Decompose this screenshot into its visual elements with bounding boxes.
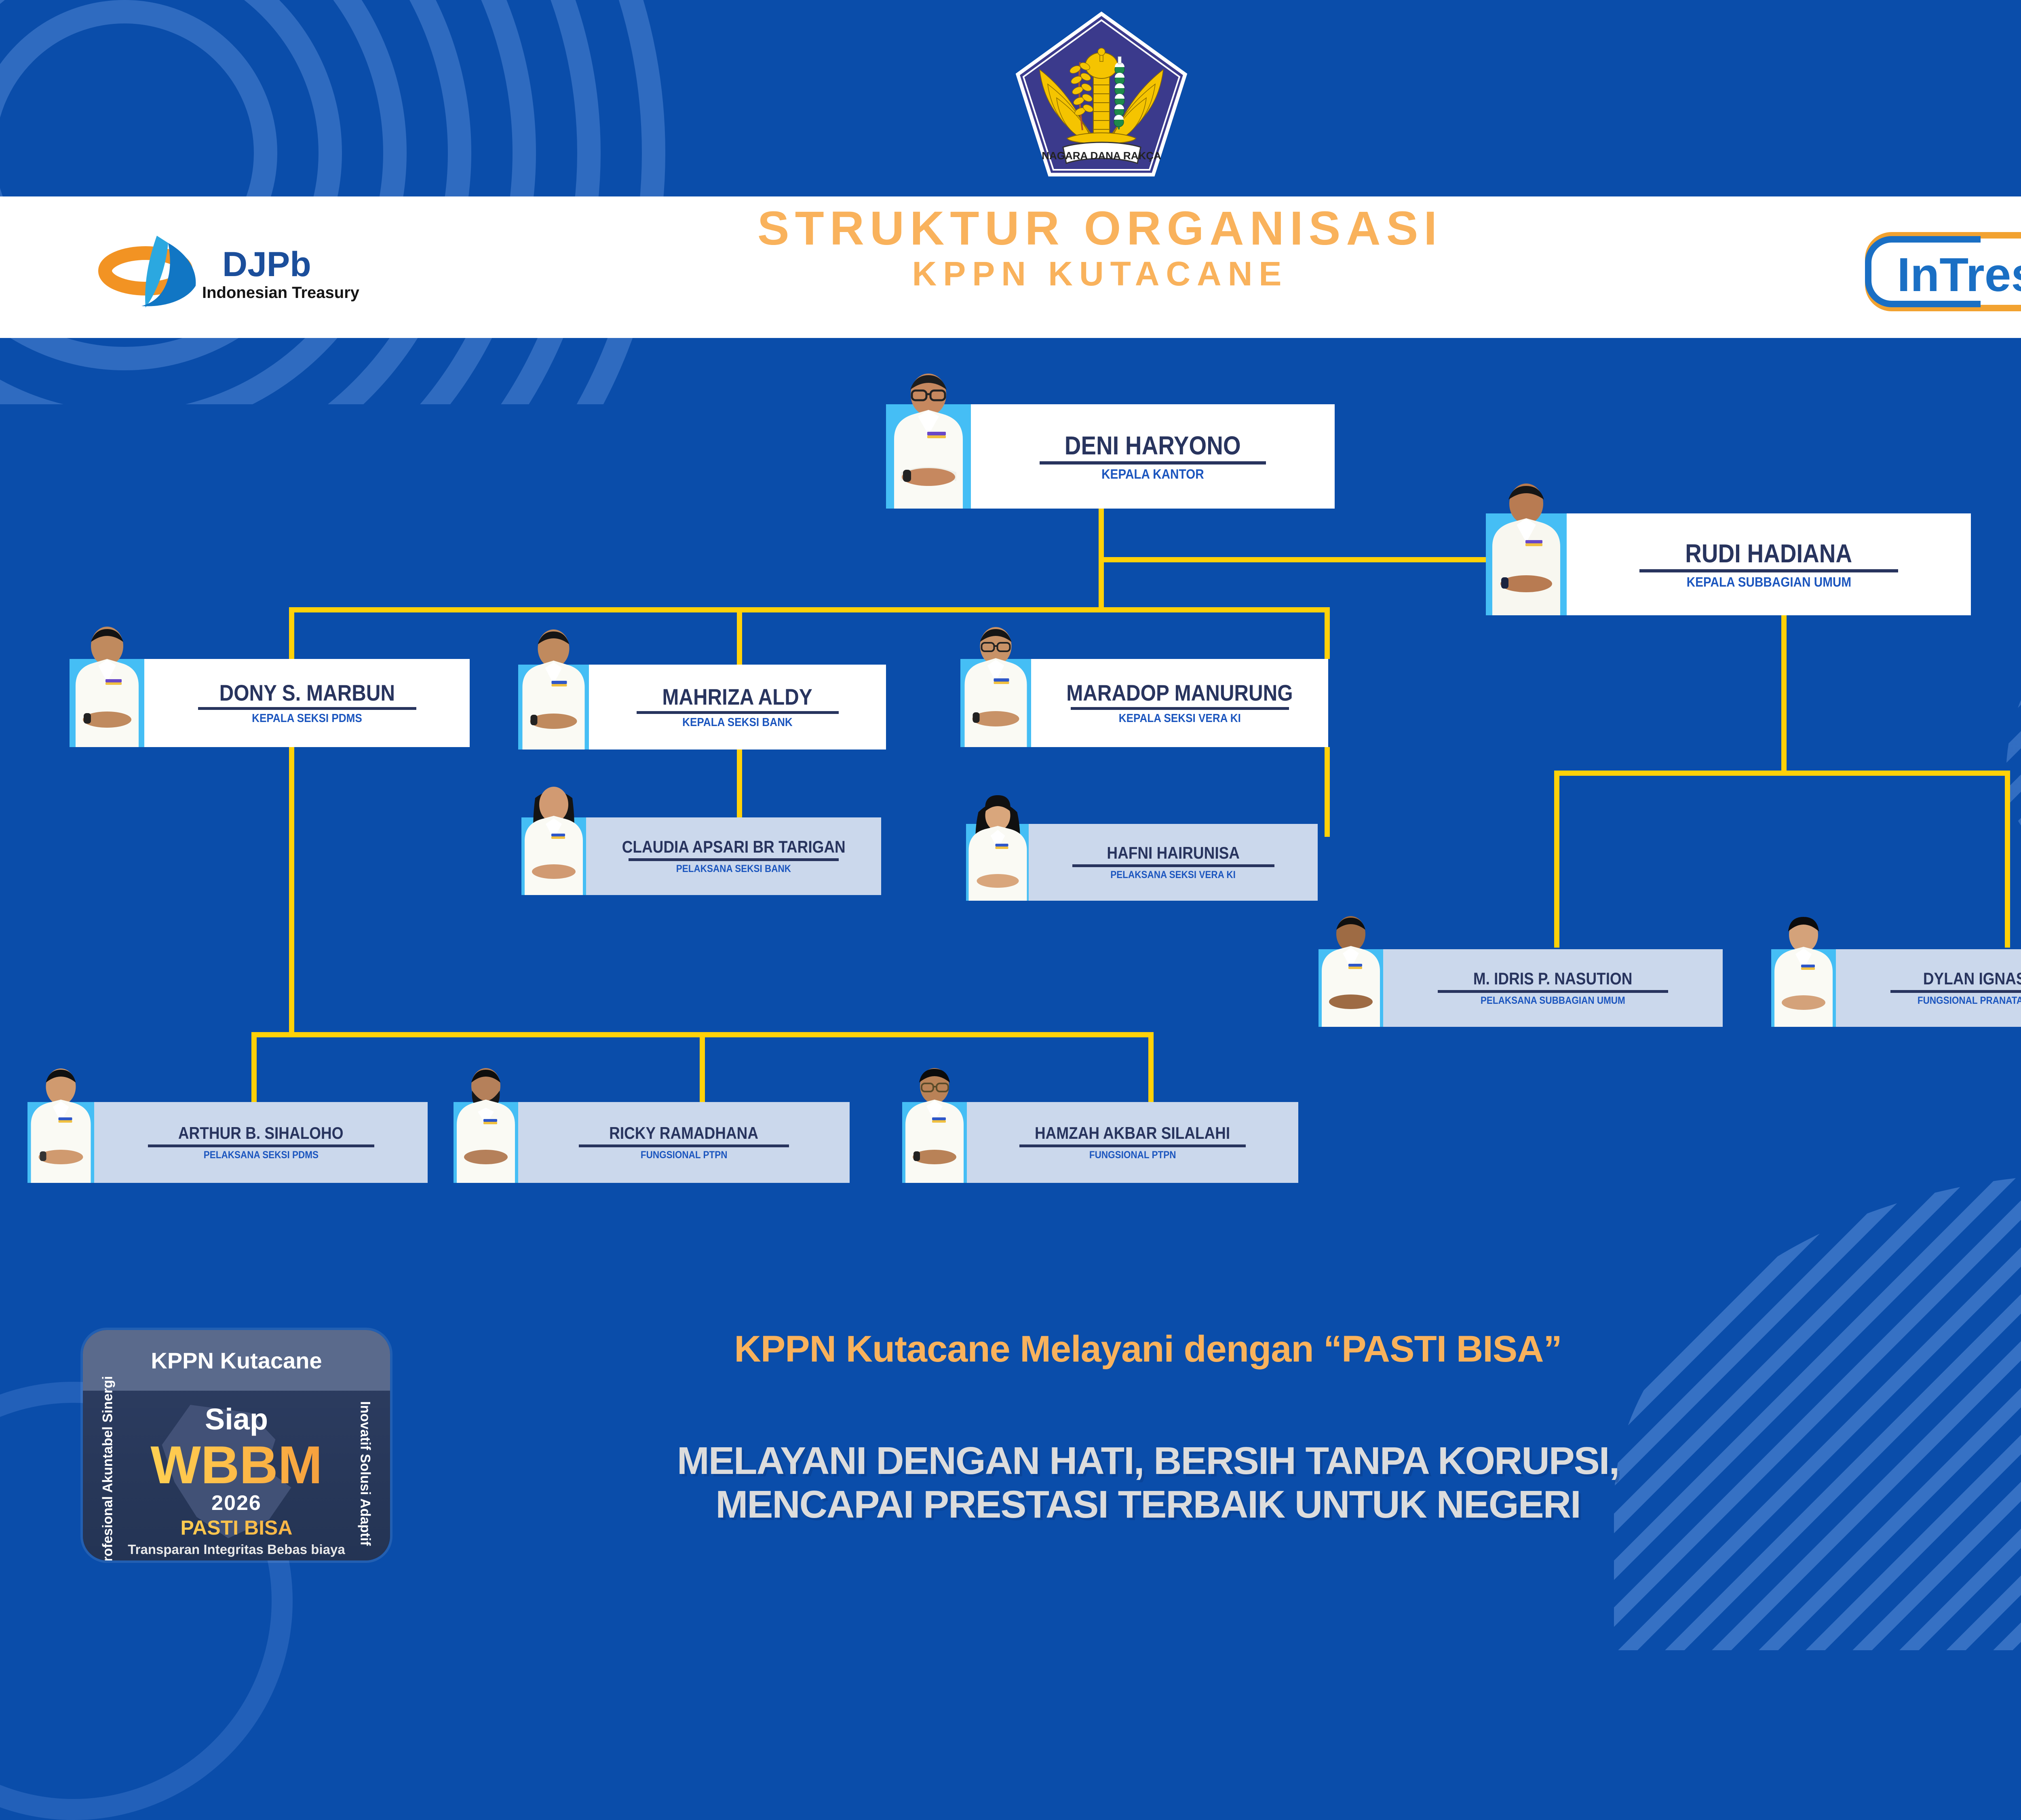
person-title: KEPALA SEKSI BANK — [682, 717, 793, 728]
org-card-dony[interactable]: DONY S. MARBUN KEPALA SEKSI PDMS — [70, 659, 470, 747]
person-title: FUNGSIONAL PRANATA KEUANGAN APBN — [1918, 996, 2021, 1006]
org-card-ricky[interactable]: RICKY RAMADHANA FUNGSIONAL PTPN — [454, 1102, 850, 1183]
card-info: CLAUDIA APSARI BR TARIGAN PELAKSANA SEKS… — [586, 817, 881, 895]
divider — [1040, 461, 1266, 465]
divider — [198, 707, 416, 710]
badge-header: KPPN Kutacane — [83, 1330, 390, 1391]
divider — [1639, 569, 1898, 572]
person-photo — [23, 1066, 98, 1183]
person-title: KEPALA SEKSI VERA KI — [1118, 713, 1240, 724]
org-card-arthur[interactable]: ARTHUR B. SIHALOHO PELAKSANA SEKSI PDMS — [27, 1102, 428, 1183]
avatar — [70, 659, 144, 747]
divider — [1890, 990, 2021, 993]
avatar — [886, 404, 971, 509]
divider — [629, 858, 839, 861]
title-main: STRUKTUR ORGANISASI — [0, 204, 2021, 253]
person-title: KEPALA SEKSI PDMS — [252, 713, 362, 724]
org-card-mahriza[interactable]: MAHRIZA ALDY KEPALA SEKSI BANK — [518, 665, 886, 750]
org-card-dylan[interactable]: DYLAN IGNAS ANGGIAN FUNGSIONAL PRANATA K… — [1771, 949, 2021, 1027]
card-info: ARTHUR B. SIHALOHO PELAKSANA SEKSI PDMS — [94, 1102, 428, 1183]
footer-tagline: KPPN Kutacane Melayani dengan “PASTI BIS… — [388, 1328, 1908, 1370]
person-title: FUNGSIONAL PTPN — [641, 1150, 728, 1160]
org-card-hamzah[interactable]: HAMZAH AKBAR SILALAHI FUNGSIONAL PTPN — [902, 1102, 1298, 1183]
connector-bus-to-deni — [1099, 561, 1104, 612]
avatar — [521, 817, 586, 895]
person-name: HAMZAH AKBAR SILALAHI — [1035, 1125, 1230, 1142]
connector-deni-to-rudi — [1099, 557, 1486, 562]
footer-slogan-line1: MELAYANI DENGAN HATI, BERSIH TANPA KORUP… — [388, 1439, 1908, 1483]
card-info: M. IDRIS P. NASUTION PELAKSANA SUBBAGIAN… — [1383, 949, 1723, 1027]
person-photo — [962, 790, 1033, 901]
divider — [579, 1144, 789, 1147]
person-name: RUDI HADIANA — [1686, 541, 1852, 566]
connector-maradop-hafni — [1325, 747, 1330, 837]
card-info: MAHRIZA ALDY KEPALA SEKSI BANK — [589, 665, 886, 750]
badge-footer-values: Transparan Integritas Bebas biaya — [83, 1542, 390, 1557]
divider — [1438, 990, 1668, 993]
person-title: PELAKSANA SEKSI PDMS — [203, 1150, 318, 1160]
background-stripes-bottom-right — [1614, 1173, 2021, 1650]
divider — [637, 711, 839, 714]
person-photo — [517, 782, 590, 895]
org-card-rudi[interactable]: RUDI HADIANA KEPALA SUBBAGIAN UMUM — [1486, 513, 1971, 615]
footer-slogan: MELAYANI DENGAN HATI, BERSIH TANPA KORUP… — [388, 1439, 1908, 1526]
card-info: MARADOP MANURUNG KEPALA SEKSI VERA KI — [1031, 659, 1328, 747]
person-photo — [449, 1066, 522, 1183]
divider — [1019, 1144, 1246, 1147]
badge-wbbm: WBBM — [83, 1434, 390, 1495]
person-name: HAFNI HAIRUNISA — [1107, 845, 1240, 861]
person-title: KEPALA KANTOR — [1101, 467, 1204, 481]
person-title: PELAKSANA SEKSI BANK — [676, 864, 791, 874]
org-card-hafni[interactable]: HAFNI HAIRUNISA PELAKSANA SEKSI VERA KI — [966, 824, 1318, 901]
person-photo — [1767, 914, 1840, 1027]
wbbm-badge: KPPN Kutacane Profesional Akuntabel Sine… — [83, 1330, 390, 1560]
avatar — [1771, 949, 1836, 1027]
org-card-maradop[interactable]: MARADOP MANURUNG KEPALA SEKSI VERA KI — [960, 659, 1328, 747]
card-info: RUDI HADIANA KEPALA SUBBAGIAN UMUM — [1567, 513, 1971, 615]
avatar — [27, 1102, 94, 1183]
card-info: HAMZAH AKBAR SILALAHI FUNGSIONAL PTPN — [967, 1102, 1298, 1183]
footer-slogan-line2: MENCAPAI PRESTASI TERBAIK UNTUK NEGERI — [388, 1483, 1908, 1527]
connector-rudi-bus — [1554, 771, 2010, 776]
person-name: DENI HARYONO — [1065, 433, 1241, 458]
person-name: DONY S. MARBUN — [219, 682, 394, 704]
emblem-motto: NAGARA DANA RAKÇA — [1042, 150, 1161, 162]
person-name: MAHRIZA ALDY — [662, 686, 812, 708]
badge-year: 2026 — [83, 1491, 390, 1515]
connector-drop-idris — [1554, 771, 1559, 948]
avatar — [902, 1102, 967, 1183]
connector-drop-maradop — [1325, 607, 1330, 659]
connector-drop-mahriza — [737, 607, 742, 665]
person-name: DYLAN IGNAS ANGGIAN — [1923, 970, 2021, 987]
card-info: DENI HARYONO KEPALA KANTOR — [971, 404, 1335, 509]
person-name: M. IDRIS P. NASUTION — [1473, 970, 1633, 987]
avatar — [518, 665, 589, 750]
poster-title: STRUKTUR ORGANISASI KPPN KUTACANE — [0, 204, 2021, 293]
person-photo — [514, 628, 593, 750]
person-title: FUNGSIONAL PTPN — [1089, 1150, 1176, 1160]
kemenkeu-emblem: NAGARA DANA RAKÇA — [1010, 5, 1192, 195]
badge-pasti-bisa: PASTI BISA — [83, 1516, 390, 1539]
poster-canvas: NAGARA DANA RAKÇA DJPb Indonesian Treasu… — [0, 0, 2021, 1650]
person-title: PELAKSANA SUBBAGIAN UMUM — [1481, 996, 1625, 1006]
person-name: MARADOP MANURUNG — [1066, 682, 1293, 704]
card-info: RICKY RAMADHANA FUNGSIONAL PTPN — [518, 1102, 850, 1183]
org-card-deni[interactable]: DENI HARYONO KEPALA KANTOR — [886, 404, 1335, 509]
person-name: ARTHUR B. SIHALOHO — [178, 1125, 344, 1142]
person-title: PELAKSANA SEKSI VERA KI — [1111, 870, 1236, 880]
card-info: HAFNI HAIRUNISA PELAKSANA SEKSI VERA KI — [1029, 824, 1318, 901]
org-card-claudia[interactable]: CLAUDIA APSARI BR TARIGAN PELAKSANA SEKS… — [521, 817, 881, 895]
avatar — [966, 824, 1029, 901]
person-photo — [67, 626, 148, 747]
connector-drop-dylan — [2005, 771, 2010, 948]
title-sub: KPPN KUTACANE — [0, 255, 2021, 292]
avatar — [960, 659, 1031, 747]
card-info: DONY S. MARBUN KEPALA SEKSI PDMS — [144, 659, 470, 747]
divider — [1072, 864, 1274, 867]
connector-rudi-down — [1781, 610, 1787, 775]
person-photo — [882, 371, 975, 509]
connector-deni-down — [1099, 509, 1104, 561]
person-name: RICKY RAMADHANA — [610, 1125, 759, 1142]
connector-section-bus — [289, 607, 1330, 612]
divider — [1071, 707, 1289, 710]
person-photo — [1482, 482, 1571, 615]
avatar — [1319, 949, 1383, 1027]
connector-drop-dony — [289, 607, 294, 659]
person-photo — [898, 1066, 971, 1183]
avatar — [454, 1102, 518, 1183]
divider — [148, 1144, 374, 1147]
connector-dony-down — [289, 747, 294, 1037]
person-title: KEPALA SUBBAGIAN UMUM — [1686, 575, 1851, 589]
badge-siap: Siap — [83, 1402, 390, 1436]
person-photo — [956, 626, 1035, 747]
person-photo — [1314, 914, 1387, 1027]
org-card-idris[interactable]: M. IDRIS P. NASUTION PELAKSANA SUBBAGIAN… — [1319, 949, 1723, 1027]
card-info: DYLAN IGNAS ANGGIAN FUNGSIONAL PRANATA K… — [1836, 949, 2021, 1027]
person-name: CLAUDIA APSARI BR TARIGAN — [622, 838, 845, 855]
avatar — [1486, 513, 1567, 615]
